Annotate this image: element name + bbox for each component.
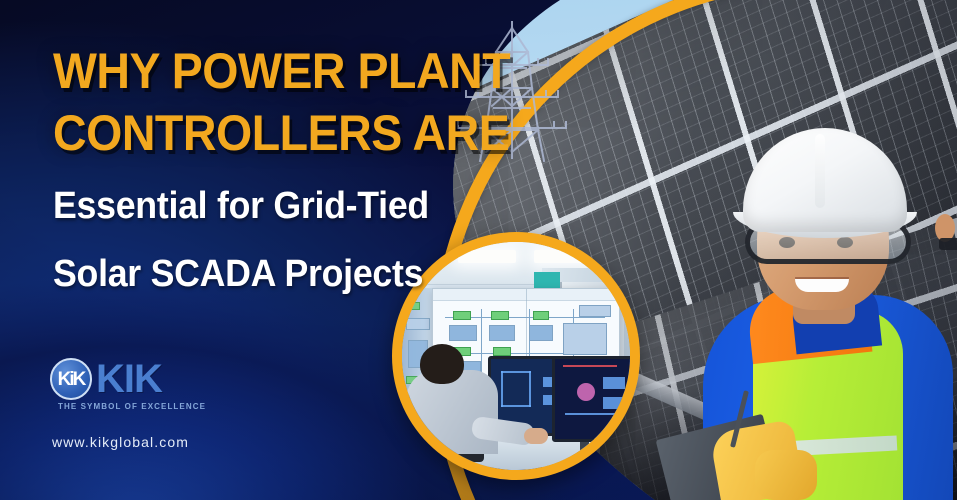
kik-wordmark: KIK — [96, 359, 162, 399]
worker-smile — [795, 279, 849, 292]
kik-logo[interactable]: KiK KIK THE SYMBOL OF EXCELLENCE — [50, 358, 250, 411]
operator-monitor-right — [552, 356, 640, 442]
kik-monogram-icon: KiK — [50, 358, 92, 400]
operator-head — [420, 344, 464, 384]
subheadline-line-2: Solar SCADA Projects — [53, 248, 448, 300]
hard-hat — [743, 128, 907, 232]
logo-row: KiK KIK — [50, 358, 250, 400]
subheadline-line-1: Essential for Grid-Tied — [53, 180, 448, 232]
headline-line-2: CONTROLLERS ARE — [53, 102, 444, 164]
goggles-strap — [939, 238, 957, 250]
headline-block: WHY POWER PLANT CONTROLLERS ARE Essentia… — [53, 40, 473, 300]
headline-line-1: WHY POWER PLANT — [53, 40, 444, 102]
hard-hat-ridge — [815, 134, 825, 208]
website-url[interactable]: www.kikglobal.com — [52, 434, 189, 450]
worker-glove-lower — [755, 450, 817, 500]
ceiling-light — [534, 250, 592, 263]
kik-monogram-text: KiK — [58, 370, 85, 389]
logo-tagline: THE SYMBOL OF EXCELLENCE — [58, 402, 250, 411]
solar-technician — [697, 100, 957, 500]
marketing-banner: WHY POWER PLANT CONTROLLERS ARE Essentia… — [0, 0, 957, 500]
operator-hand — [524, 428, 548, 444]
operator-body — [406, 370, 498, 454]
